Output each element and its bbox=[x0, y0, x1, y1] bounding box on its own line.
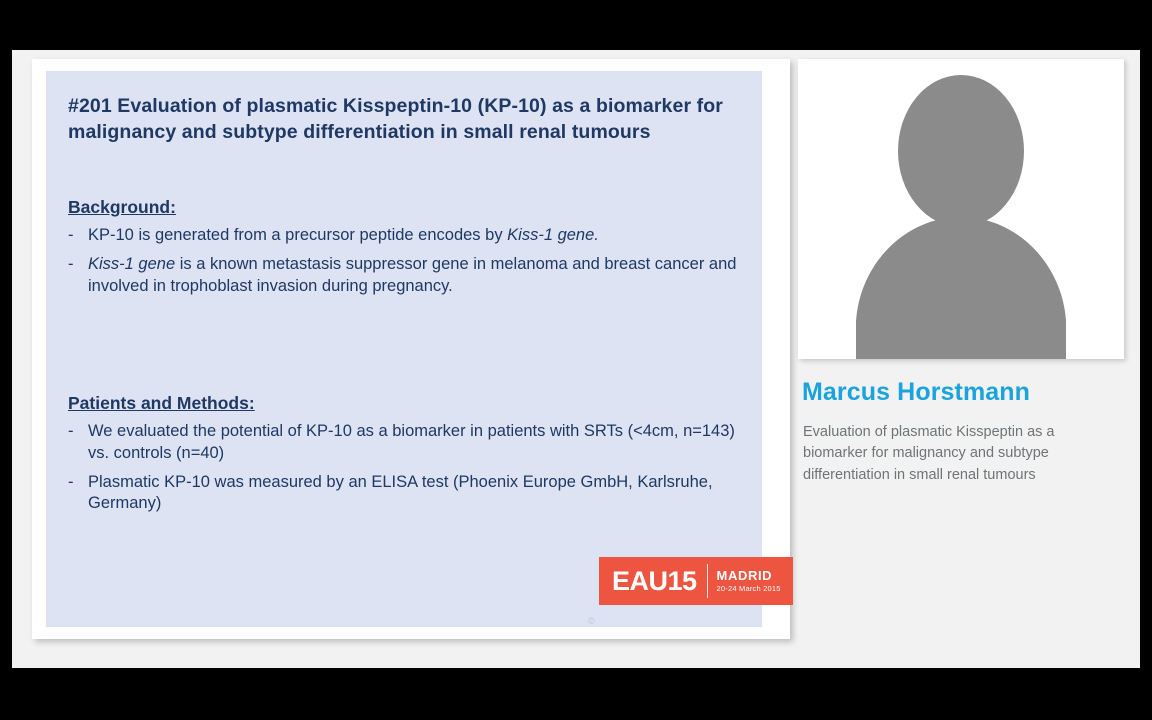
letterbox-bottom bbox=[0, 668, 1152, 720]
section-heading: Background: bbox=[68, 197, 758, 218]
section-background: Background: - KP-10 is generated from a … bbox=[68, 197, 758, 297]
slide-body: #201 Evaluation of plasmatic Kisspeptin-… bbox=[46, 71, 762, 627]
slide-card[interactable]: #201 Evaluation of plasmatic Kisspeptin-… bbox=[32, 59, 790, 639]
page-content: #201 Evaluation of plasmatic Kisspeptin-… bbox=[12, 50, 1140, 668]
bullet-marker: - bbox=[68, 421, 88, 465]
section-bullets: - We evaluated the potential of KP-10 as… bbox=[68, 421, 758, 515]
letterbox-top bbox=[0, 0, 1152, 50]
list-item: - Plasmatic KP-10 was measured by an ELI… bbox=[68, 472, 758, 516]
bullet-text: Kiss-1 gene is a known metastasis suppre… bbox=[88, 254, 758, 298]
eau-logo-text: EAU15 bbox=[599, 566, 697, 597]
eau-congress-logo: EAU15 MADRID 20-24 March 2015 bbox=[599, 557, 793, 605]
eau-logo-city: MADRID bbox=[717, 569, 781, 583]
bullet-text: KP-10 is generated from a precursor pept… bbox=[88, 225, 758, 247]
bullet-text: Plasmatic KP-10 was measured by an ELISA… bbox=[88, 472, 758, 516]
speaker-description: Evaluation of plasmatic Kisspeptin as a … bbox=[803, 422, 1115, 486]
section-bullets: - KP-10 is generated from a precursor pe… bbox=[68, 225, 758, 297]
list-item: - We evaluated the potential of KP-10 as… bbox=[68, 421, 758, 465]
list-item: - KP-10 is generated from a precursor pe… bbox=[68, 225, 758, 247]
speaker-name: Marcus Horstmann bbox=[802, 378, 1132, 407]
person-silhouette-icon bbox=[798, 59, 1124, 359]
slide-title: #201 Evaluation of plasmatic Kisspeptin-… bbox=[68, 93, 744, 145]
eau-logo-details: MADRID 20-24 March 2015 bbox=[717, 569, 781, 593]
speaker-photo-card bbox=[798, 59, 1124, 359]
section-heading: Patients and Methods: bbox=[68, 393, 758, 414]
screen: #201 Evaluation of plasmatic Kisspeptin-… bbox=[0, 0, 1152, 720]
bullet-marker: - bbox=[68, 254, 88, 298]
copyright-mark: © bbox=[588, 616, 595, 626]
eau-logo-divider bbox=[707, 564, 708, 598]
list-item: - Kiss-1 gene is a known metastasis supp… bbox=[68, 254, 758, 298]
speaker-avatar bbox=[798, 59, 1124, 359]
bullet-text: We evaluated the potential of KP-10 as a… bbox=[88, 421, 758, 465]
section-patients-methods: Patients and Methods: - We evaluated the… bbox=[68, 393, 758, 515]
eau-logo-dates: 20-24 March 2015 bbox=[717, 585, 781, 593]
bullet-marker: - bbox=[68, 472, 88, 516]
bullet-marker: - bbox=[68, 225, 88, 247]
